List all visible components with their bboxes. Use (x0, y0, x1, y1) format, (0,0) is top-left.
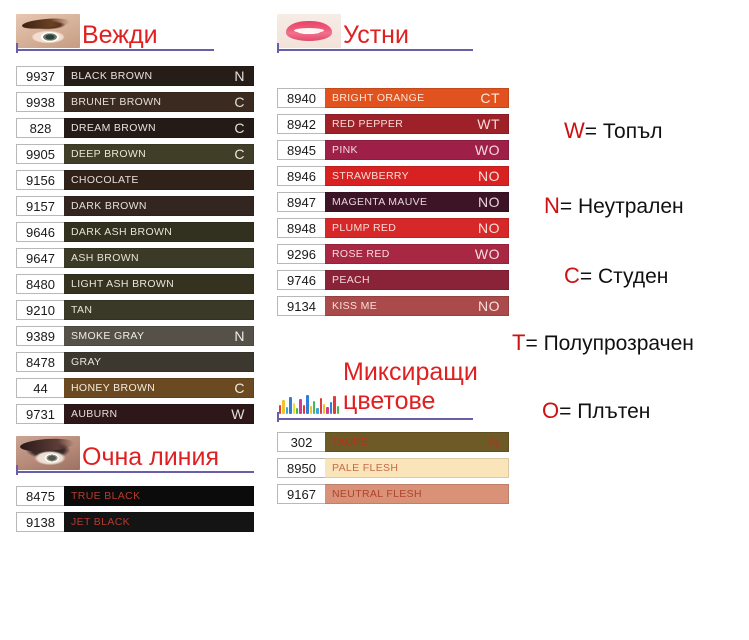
legend-label: Полупрозрачен (544, 332, 694, 355)
swatch-undertone-tag: WO (475, 142, 500, 158)
lips-color-list: 8940BRIGHT ORANGECT8942RED PEPPERWT8945P… (277, 88, 509, 322)
legend-item: C= Студен (564, 265, 668, 288)
swatch-name: DREAM BROWN (71, 122, 156, 134)
color-swatch-row[interactable]: 9156CHOCOLATE (16, 170, 254, 190)
color-swatch-row[interactable]: 8946STRAWBERRYNO (277, 166, 509, 186)
swatch-name: PLUMP RED (332, 222, 396, 234)
color-swatch-row[interactable]: 9389SMOKE GRAYN (16, 326, 254, 346)
legend-item: O= Плътен (542, 400, 650, 423)
swatch-color-chip: SMOKE GRAYN (64, 326, 254, 346)
swatch-name: KISS ME (332, 300, 377, 312)
swatch-color-chip: TAUPEN (325, 432, 509, 452)
legend-equals: = (560, 195, 578, 218)
swatch-undertone-tag: NO (478, 298, 500, 314)
swatch-color-chip: BRUNET BROWNC (64, 92, 254, 112)
mixing-icon-bar (337, 406, 339, 414)
legend-item: N= Неутрален (544, 195, 684, 218)
swatch-undertone-tag: C (234, 120, 245, 136)
swatch-undertone-tag: WT (477, 116, 500, 132)
swatch-color-chip: DEEP BROWNC (64, 144, 254, 164)
color-swatch-row[interactable]: 8942RED PEPPERWT (277, 114, 509, 134)
swatch-name: DARK ASH BROWN (71, 226, 172, 238)
eyebrow-color-list: 9937BLACK BROWNN9938BRUNET BROWNC828DREA… (16, 66, 254, 430)
legend-equals: = (585, 120, 603, 143)
swatch-code: 8950 (277, 458, 325, 478)
swatch-name: NEUTRAL FLESH (332, 488, 422, 500)
color-swatch-row[interactable]: 9905DEEP BROWNC (16, 144, 254, 164)
mixing-color-list: 302TAUPEN8950PALE FLESH9167NEUTRAL FLESH (277, 432, 509, 510)
swatch-name: TAUPE (332, 436, 368, 448)
swatch-color-chip: DARK BROWN (64, 196, 254, 216)
mixing-icon-bar (323, 404, 325, 414)
section-header-eyeliner: Очна линия (16, 436, 219, 470)
swatch-color-chip: CHOCOLATE (64, 170, 254, 190)
mixing-icon-bar (326, 407, 328, 414)
mixing-icon-bar (282, 400, 284, 414)
swatch-color-chip: STRAWBERRYNO (325, 166, 509, 186)
mixing-colors-chart-icon (277, 382, 341, 416)
mixing-icon-bar (320, 398, 322, 414)
swatch-name: STRAWBERRY (332, 170, 409, 182)
swatch-color-chip: DREAM BROWNC (64, 118, 254, 138)
section-title-eyebrows: Вежди (82, 22, 158, 48)
swatch-code: 9138 (16, 512, 64, 532)
swatch-code: 8940 (277, 88, 325, 108)
legend-label: Студен (598, 265, 668, 288)
swatch-undertone-tag: N (234, 328, 245, 344)
swatch-name: ASH BROWN (71, 252, 139, 264)
swatch-undertone-tag: C (234, 146, 245, 162)
mixing-icon-bar (303, 405, 305, 414)
section-rule-lips (277, 49, 473, 51)
swatch-code: 9731 (16, 404, 64, 424)
swatch-color-chip: BLACK BROWNN (64, 66, 254, 86)
mixing-icon-bar (293, 403, 295, 414)
color-swatch-row[interactable]: 9138JET BLACK (16, 512, 254, 532)
section-header-eyebrows: Вежди (16, 14, 158, 48)
swatch-name: ROSE RED (332, 248, 390, 260)
swatch-name: BRIGHT ORANGE (332, 92, 424, 104)
swatch-name: MAGENTA MAUVE (332, 196, 427, 208)
legend-key: N (544, 193, 560, 218)
color-swatch-row[interactable]: 8475TRUE BLACK (16, 486, 254, 506)
swatch-name: TRUE BLACK (71, 490, 140, 502)
legend-label: Плътен (577, 400, 650, 423)
swatch-color-chip: ROSE REDWO (325, 244, 509, 264)
section-rule-mixing (277, 418, 473, 420)
swatch-code: 9746 (277, 270, 325, 290)
color-swatch-row[interactable]: 9157DARK BROWN (16, 196, 254, 216)
swatch-color-chip: TAN (64, 300, 254, 320)
swatch-undertone-tag: NO (478, 194, 500, 210)
color-swatch-row[interactable]: 8945PINKWO (277, 140, 509, 160)
swatch-name: LIGHT ASH BROWN (71, 278, 174, 290)
section-header-mixing: Миксиращи цветове (277, 358, 492, 416)
swatch-undertone-tag: N (234, 68, 245, 84)
swatch-undertone-tag: C (234, 94, 245, 110)
swatch-code: 9646 (16, 222, 64, 242)
swatch-undertone-tag: CT (480, 90, 500, 106)
swatch-code: 8945 (277, 140, 325, 160)
swatch-code: 9937 (16, 66, 64, 86)
section-rule-eyebrows (16, 49, 214, 51)
eyeliner-photo-icon (16, 436, 80, 470)
legend-key: T (512, 330, 525, 355)
color-swatch-row[interactable]: 9646DARK ASH BROWN (16, 222, 254, 242)
swatch-code: 9389 (16, 326, 64, 346)
swatch-color-chip: NEUTRAL FLESH (325, 484, 509, 504)
section-title-lips: Устни (343, 22, 409, 48)
swatch-code: 9167 (277, 484, 325, 504)
legend-equals: = (525, 332, 543, 355)
color-swatch-row[interactable]: 8940BRIGHT ORANGECT (277, 88, 509, 108)
swatch-code: 44 (16, 378, 64, 398)
mixing-icon-bar (306, 395, 308, 414)
mixing-icon-bar (286, 407, 288, 414)
legend-label: Топъл (603, 120, 663, 143)
swatch-name: BLACK BROWN (71, 70, 152, 82)
swatch-code: 9938 (16, 92, 64, 112)
swatch-color-chip: ASH BROWN (64, 248, 254, 268)
mixing-icon-bar (330, 402, 332, 414)
color-swatch-row[interactable]: 9167NEUTRAL FLESH (277, 484, 509, 504)
legend-key: W (564, 118, 585, 143)
swatch-code: 9157 (16, 196, 64, 216)
mixing-icon-bar (316, 408, 318, 414)
legend-equals: = (580, 265, 598, 288)
swatch-color-chip: DARK ASH BROWN (64, 222, 254, 242)
swatch-undertone-tag: W (231, 406, 245, 422)
swatch-name: HONEY BROWN (71, 382, 155, 394)
swatch-name: PEACH (332, 274, 370, 286)
legend-item: T= Полупрозрачен (512, 332, 694, 355)
swatch-code: 9647 (16, 248, 64, 268)
swatch-color-chip: PALE FLESH (325, 458, 509, 478)
mixing-icon-bar (299, 399, 301, 414)
swatch-name: RED PEPPER (332, 118, 403, 130)
swatch-color-chip: BRIGHT ORANGECT (325, 88, 509, 108)
color-swatch-row[interactable]: 828DREAM BROWNC (16, 118, 254, 138)
swatch-code: 302 (277, 432, 325, 452)
swatch-code: 9210 (16, 300, 64, 320)
mixing-icon-bar (313, 401, 315, 414)
swatch-undertone-tag: N (489, 434, 500, 450)
swatch-color-chip: PINKWO (325, 140, 509, 160)
color-swatch-row[interactable]: 8950PALE FLESH (277, 458, 509, 478)
swatch-code: 8475 (16, 486, 64, 506)
swatch-name: GRAY (71, 356, 101, 368)
swatch-name: AUBURN (71, 408, 117, 420)
swatch-undertone-tag: NO (478, 168, 500, 184)
eyebrow-photo-icon (16, 14, 80, 48)
section-title-eyeliner: Очна линия (82, 444, 219, 470)
mixing-icon-bar (289, 397, 291, 414)
swatch-code: 8480 (16, 274, 64, 294)
swatch-color-chip: JET BLACK (64, 512, 254, 532)
mixing-icon-bar (279, 405, 281, 414)
color-swatch-row[interactable]: 302TAUPEN (277, 432, 509, 452)
legend-equals: = (559, 400, 577, 423)
swatch-code: 9156 (16, 170, 64, 190)
swatch-color-chip: LIGHT ASH BROWN (64, 274, 254, 294)
swatch-code: 8946 (277, 166, 325, 186)
swatch-name: TAN (71, 304, 92, 316)
swatch-color-chip: PLUMP REDNO (325, 218, 509, 238)
color-swatch-row[interactable]: 9296ROSE REDWO (277, 244, 509, 264)
color-swatch-row[interactable]: 9937BLACK BROWNN (16, 66, 254, 86)
eyeliner-color-list: 8475TRUE BLACK9138JET BLACK (16, 486, 254, 538)
color-swatch-row[interactable]: 44HONEY BROWNC (16, 378, 254, 398)
section-header-lips: Устни (277, 14, 409, 48)
mixing-icon-bar (296, 408, 298, 414)
legend: W= ТопълN= НеутраленC= СтуденT= Полупроз… (512, 110, 749, 410)
legend-label: Неутрален (578, 195, 684, 218)
section-rule-eyeliner (16, 471, 254, 473)
color-swatch-row[interactable]: 8480LIGHT ASH BROWN (16, 274, 254, 294)
swatch-name: PINK (332, 144, 358, 156)
swatch-name: DARK BROWN (71, 200, 147, 212)
swatch-color-chip: KISS MENO (325, 296, 509, 316)
color-swatch-row[interactable]: 9746PEACH (277, 270, 509, 290)
swatch-name: DEEP BROWN (71, 148, 146, 160)
swatch-code: 828 (16, 118, 64, 138)
swatch-color-chip: HONEY BROWNC (64, 378, 254, 398)
mixing-icon-bar (333, 396, 335, 414)
swatch-code: 9134 (277, 296, 325, 316)
lips-photo-icon (277, 14, 341, 48)
color-swatch-row[interactable]: 9134KISS MENO (277, 296, 509, 316)
swatch-code: 8478 (16, 352, 64, 372)
swatch-name: JET BLACK (71, 516, 130, 528)
legend-key: O (542, 398, 559, 423)
color-swatch-row[interactable]: 9731AUBURNW (16, 404, 254, 424)
color-swatch-row[interactable]: 8478GRAY (16, 352, 254, 372)
swatch-undertone-tag: WO (475, 246, 500, 262)
color-swatch-row[interactable]: 8948PLUMP REDNO (277, 218, 509, 238)
swatch-code: 9296 (277, 244, 325, 264)
swatch-undertone-tag: NO (478, 220, 500, 236)
swatch-color-chip: MAGENTA MAUVENO (325, 192, 509, 212)
swatch-name: BRUNET BROWN (71, 96, 161, 108)
swatch-code: 8948 (277, 218, 325, 238)
swatch-color-chip: TRUE BLACK (64, 486, 254, 506)
color-swatch-row[interactable]: 9938BRUNET BROWNC (16, 92, 254, 112)
color-swatch-row[interactable]: 9647ASH BROWN (16, 248, 254, 268)
swatch-name: PALE FLESH (332, 462, 398, 474)
section-title-mixing: Миксиращи цветове (343, 358, 492, 416)
swatch-undertone-tag: C (234, 380, 245, 396)
swatch-name: SMOKE GRAY (71, 330, 144, 342)
swatch-color-chip: RED PEPPERWT (325, 114, 509, 134)
color-swatch-row[interactable]: 8947MAGENTA MAUVENO (277, 192, 509, 212)
swatch-code: 9905 (16, 144, 64, 164)
mixing-icon-bar (310, 406, 312, 414)
swatch-color-chip: GRAY (64, 352, 254, 372)
swatch-name: CHOCOLATE (71, 174, 139, 186)
swatch-code: 8942 (277, 114, 325, 134)
legend-item: W= Топъл (564, 120, 663, 143)
swatch-code: 8947 (277, 192, 325, 212)
swatch-color-chip: AUBURNW (64, 404, 254, 424)
swatch-color-chip: PEACH (325, 270, 509, 290)
legend-key: C (564, 263, 580, 288)
color-swatch-row[interactable]: 9210TAN (16, 300, 254, 320)
